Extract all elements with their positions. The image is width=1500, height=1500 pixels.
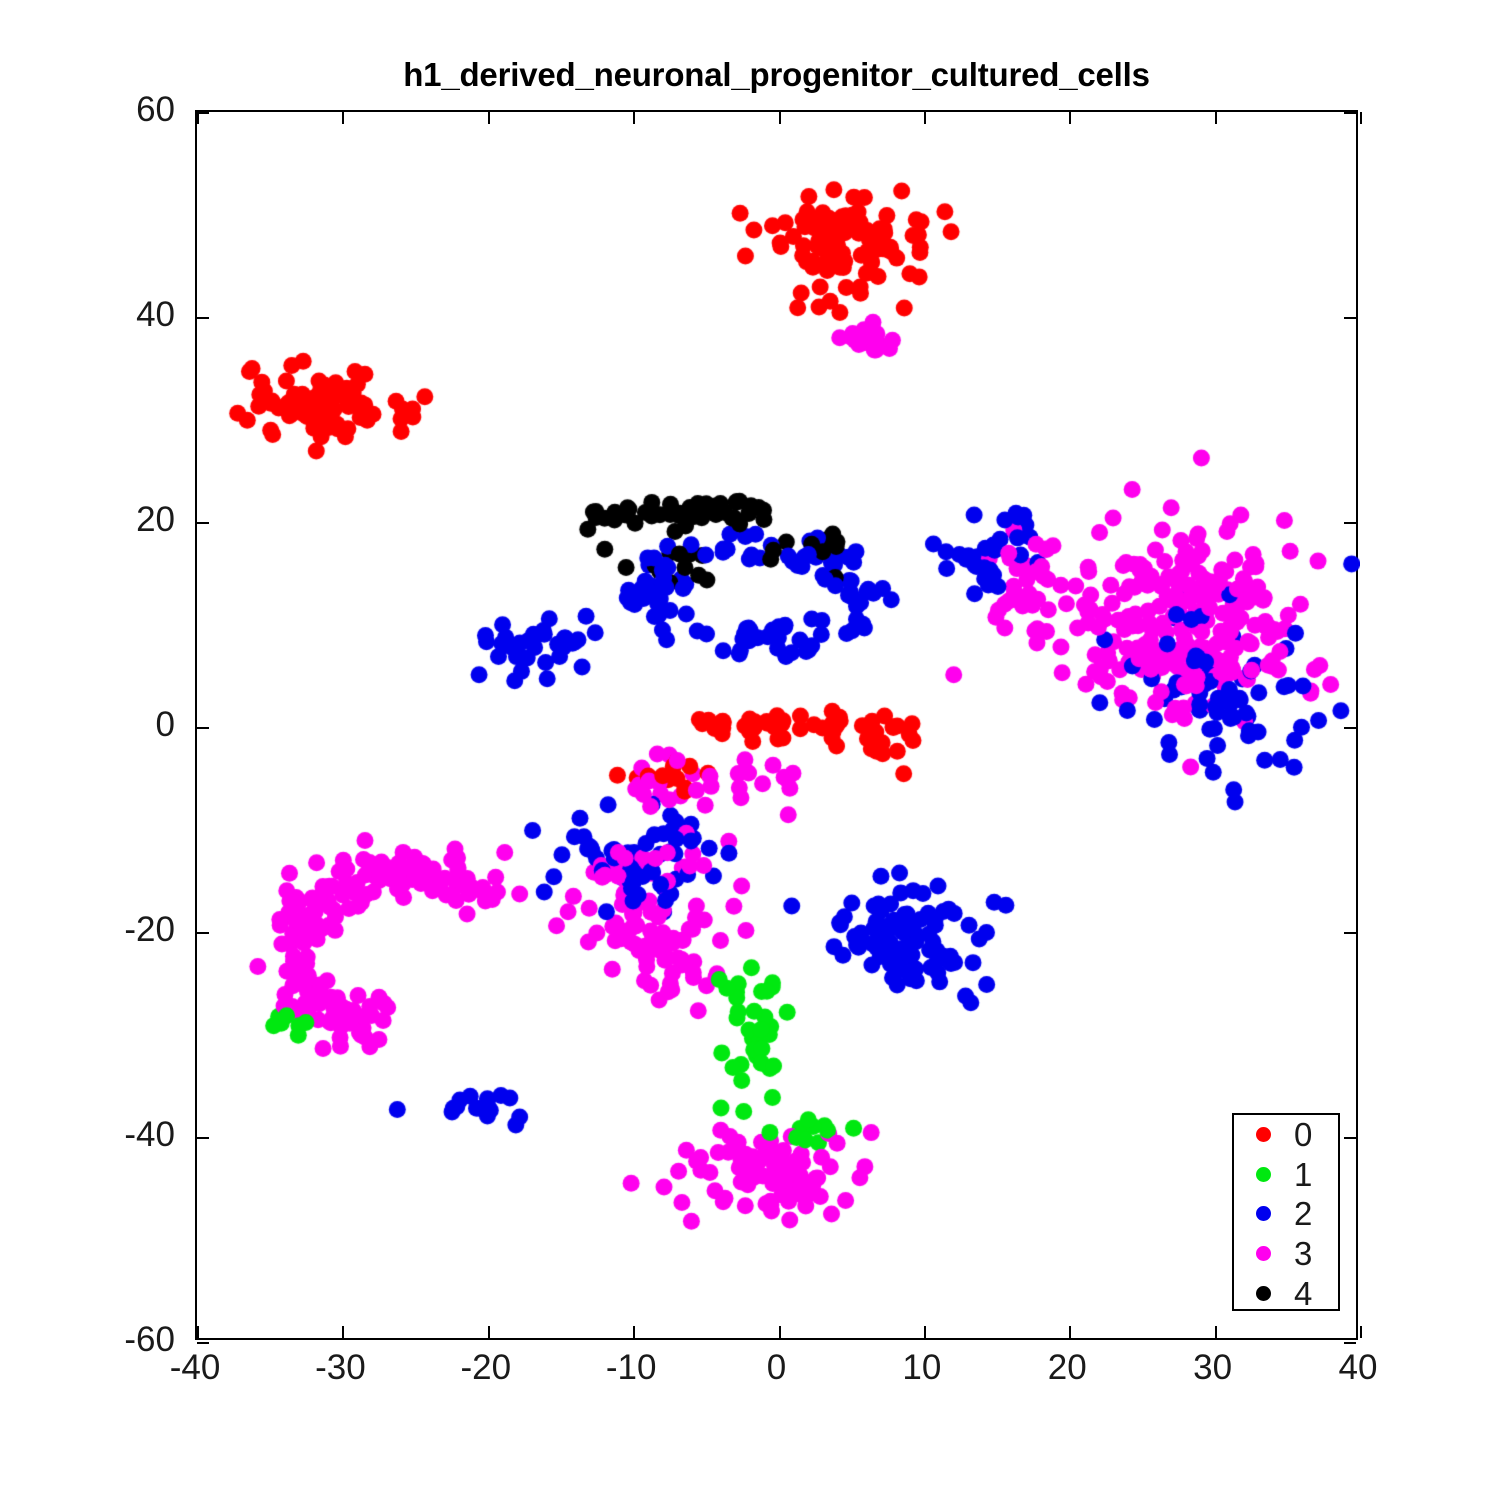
x-tick-1 — [342, 1326, 344, 1338]
y-axis-label-6: -60 — [0, 1320, 175, 1360]
legend-marker-icon — [1256, 1246, 1271, 1261]
y-tick-5 — [197, 317, 209, 319]
x-tick-8 — [1360, 1326, 1362, 1338]
legend-item-4[interactable]: 4 — [1234, 1273, 1338, 1313]
x-tick-2 — [488, 112, 490, 124]
y-tick-0 — [1344, 1342, 1356, 1344]
legend-item-2[interactable]: 2 — [1234, 1194, 1338, 1234]
y-tick-2 — [1344, 932, 1356, 934]
x-axis-label-8: 40 — [1339, 1348, 1378, 1388]
legend-label: 4 — [1294, 1277, 1312, 1310]
x-tick-6 — [1069, 1326, 1071, 1338]
x-tick-0 — [197, 1326, 199, 1338]
page-title: h1_derived_neuronal_progenitor_cultured_… — [195, 56, 1358, 94]
x-tick-4 — [779, 1326, 781, 1338]
y-tick-0 — [197, 1342, 209, 1344]
legend-label: 1 — [1294, 1158, 1312, 1191]
y-axis-label-4: -20 — [0, 910, 175, 950]
y-tick-3 — [197, 727, 209, 729]
x-axis-label-6: 20 — [1048, 1348, 1087, 1388]
x-tick-5 — [924, 112, 926, 124]
x-tick-7 — [1215, 112, 1217, 124]
legend-label: 2 — [1294, 1197, 1312, 1230]
x-tick-5 — [924, 1326, 926, 1338]
scatter-plot-figure: h1_derived_neuronal_progenitor_cultured_… — [0, 0, 1500, 1500]
legend-marker-icon — [1256, 1286, 1271, 1301]
x-axis-label-0: -40 — [170, 1348, 221, 1388]
x-tick-7 — [1215, 1326, 1217, 1338]
x-tick-3 — [633, 1326, 635, 1338]
x-axis-label-4: 0 — [767, 1348, 786, 1388]
x-axis-label-3: -10 — [606, 1348, 657, 1388]
y-tick-2 — [197, 932, 209, 934]
y-tick-4 — [1344, 522, 1356, 524]
x-tick-2 — [488, 1326, 490, 1338]
legend-label: 0 — [1294, 1118, 1312, 1151]
y-tick-1 — [1344, 1137, 1356, 1139]
chart-legend[interactable]: 01234 — [1232, 1113, 1340, 1311]
y-tick-6 — [1344, 112, 1356, 114]
x-axis-label-7: 30 — [1193, 1348, 1232, 1388]
legend-item-0[interactable]: 0 — [1234, 1115, 1338, 1155]
y-tick-1 — [197, 1137, 209, 1139]
legend-marker-icon — [1256, 1127, 1271, 1142]
x-axis-label-5: 10 — [902, 1348, 941, 1388]
x-tick-8 — [1360, 112, 1362, 124]
legend-item-1[interactable]: 1 — [1234, 1155, 1338, 1195]
legend-marker-icon — [1256, 1167, 1271, 1182]
y-tick-5 — [1344, 317, 1356, 319]
y-tick-3 — [1344, 727, 1356, 729]
scatter-points-canvas — [197, 112, 1360, 1342]
x-axis-label-2: -20 — [460, 1348, 511, 1388]
y-tick-6 — [197, 112, 209, 114]
y-tick-4 — [197, 522, 209, 524]
x-axis-label-1: -30 — [315, 1348, 366, 1388]
legend-marker-icon — [1256, 1206, 1271, 1221]
plot-axes-frame — [195, 110, 1358, 1340]
y-axis-label-1: 40 — [0, 295, 175, 335]
legend-label: 3 — [1294, 1237, 1312, 1270]
y-axis-label-3: 0 — [0, 705, 175, 745]
x-tick-1 — [342, 112, 344, 124]
x-tick-3 — [633, 112, 635, 124]
legend-item-3[interactable]: 3 — [1234, 1234, 1338, 1274]
y-axis-label-2: 20 — [0, 500, 175, 540]
y-axis-label-0: 60 — [0, 90, 175, 130]
y-axis-label-5: -40 — [0, 1115, 175, 1155]
x-tick-4 — [779, 112, 781, 124]
x-tick-6 — [1069, 112, 1071, 124]
